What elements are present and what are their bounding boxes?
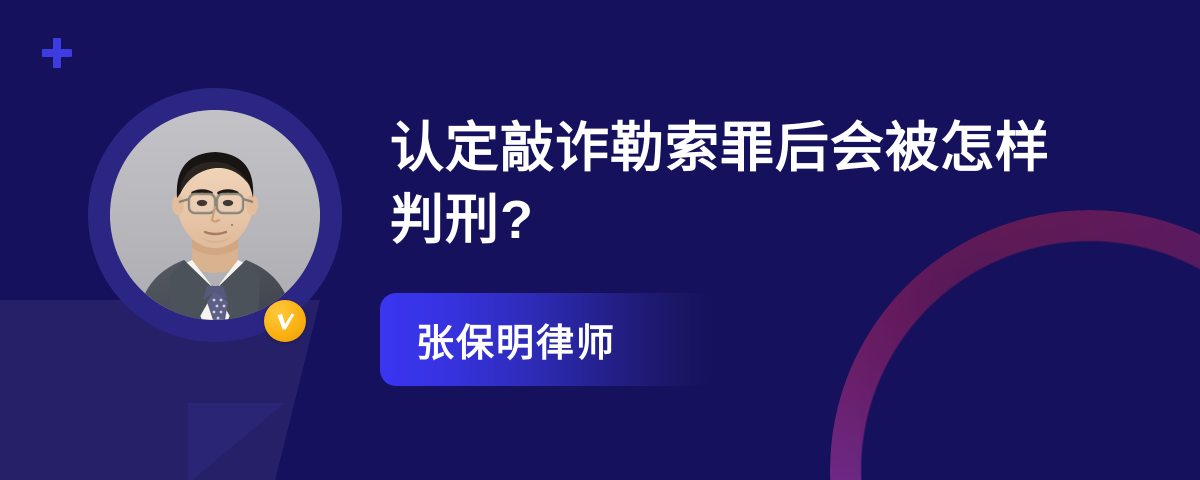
verified-badge (264, 300, 306, 342)
avatar[interactable] (88, 88, 342, 342)
stem-shape (152, 350, 188, 480)
triangle-shape (188, 403, 284, 480)
avatar-photo (110, 110, 320, 320)
lawyer-name-badge[interactable]: 张保明律师 (380, 293, 715, 386)
lawyer-name-label: 张保明律师 (416, 312, 616, 367)
page-title: 认定敲诈勒索罪后会被怎样判刑? (390, 112, 1070, 256)
copy-block: 认定敲诈勒索罪后会被怎样判刑? (390, 112, 1090, 256)
lawyer-qa-banner: 认定敲诈勒索罪后会被怎样判刑? 张保明律师 (0, 0, 1200, 480)
plus-icon (42, 38, 72, 68)
